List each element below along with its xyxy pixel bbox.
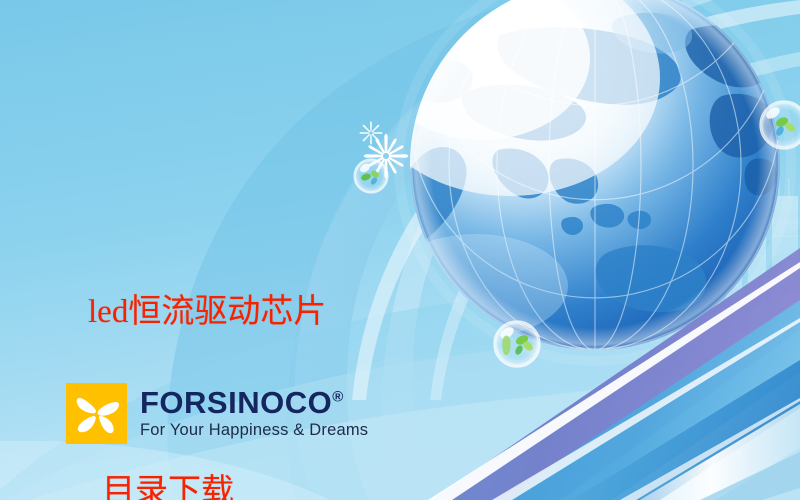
headline-text: led恒流驱动芯片 目录下载	[88, 162, 326, 500]
logo-text-block: FORSINOCO® For Your Happiness & Dreams	[140, 387, 368, 440]
logo-wordmark: FORSINOCO®	[140, 387, 368, 419]
promo-banner: led恒流驱动芯片 目录下载 FORSINOCO® Fo	[0, 0, 800, 500]
headline-line-1: led恒流驱动芯片	[88, 282, 326, 342]
pinwheel-flower-icon	[66, 383, 127, 444]
bubble-with-pinwheel-bottom	[494, 321, 540, 367]
company-logo: FORSINOCO® For Your Happiness & Dreams	[66, 383, 368, 444]
logo-mark-tile	[66, 383, 127, 444]
logo-tagline: For Your Happiness & Dreams	[140, 420, 368, 440]
registered-trademark-icon: ®	[332, 389, 344, 406]
headline-line-2: 目录下载	[88, 462, 326, 500]
logo-wordmark-text: FORSINOCO	[140, 385, 332, 420]
bubble-with-pinwheel-left	[354, 159, 388, 193]
bubble-with-pinwheel-right-edge	[760, 101, 800, 149]
